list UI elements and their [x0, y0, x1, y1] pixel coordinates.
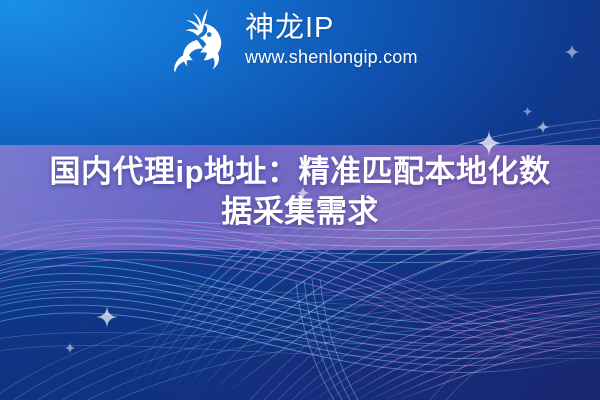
page-title: 国内代理ip地址：精准匹配本地化数 据采集需求	[0, 152, 600, 233]
headline-line-2: 据采集需求	[0, 192, 600, 232]
banner-image: 神龙IP www.shenlongip.com 国内代理ip地址：精准匹配本地化…	[0, 0, 600, 400]
headline-line-1: 国内代理ip地址：精准匹配本地化数	[0, 152, 600, 192]
brand-text-column: 神龙IP www.shenlongip.com	[245, 11, 418, 69]
brand-logo: 神龙IP www.shenlongip.com	[166, 6, 418, 74]
brand-url: www.shenlongip.com	[245, 46, 418, 69]
dragon-icon	[166, 6, 236, 74]
brand-name: 神龙IP	[245, 13, 418, 43]
